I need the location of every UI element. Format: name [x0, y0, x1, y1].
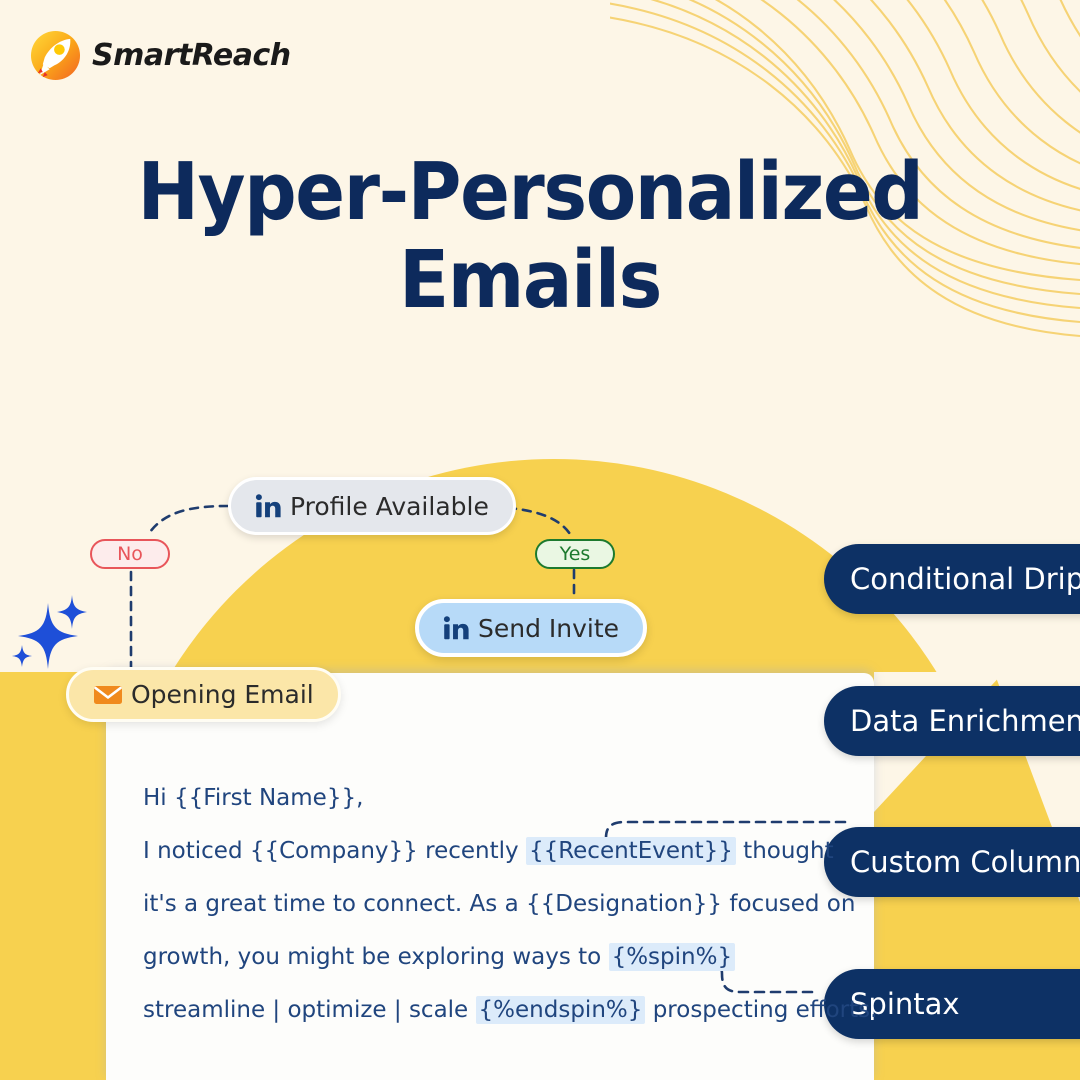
- merge-token: {%spin%}: [609, 943, 736, 971]
- email-text: it's a great time to connect. As a {{Des…: [143, 891, 855, 917]
- email-text: thought: [736, 838, 834, 864]
- feature-pill-label: Custom Columns: [850, 845, 1080, 879]
- email-line: streamline | optimize | scale {%endspin%…: [143, 984, 843, 1037]
- email-text: prospecting efforts.: [645, 997, 877, 1023]
- feature-pill-data-enrichment[interactable]: Data Enrichment: [824, 686, 1080, 756]
- email-line: it's a great time to connect. As a {{Des…: [143, 878, 843, 931]
- linkedin-icon: [255, 494, 282, 518]
- flow-badge-yes[interactable]: Yes: [535, 539, 615, 569]
- flow-node-label: Opening Email: [131, 680, 314, 709]
- merge-token: {%endspin%}: [476, 996, 646, 1024]
- envelope-icon: [93, 684, 123, 706]
- feature-pill-conditional-drip[interactable]: Conditional Drip: [824, 544, 1080, 614]
- email-text: growth, you might be exploring ways to: [143, 944, 609, 970]
- email-line: I noticed {{Company}} recently {{RecentE…: [143, 825, 843, 878]
- page-title-line-1: Hyper-Personalized: [37, 148, 1023, 236]
- email-line: growth, you might be exploring ways to {…: [143, 931, 843, 984]
- yellow-left-strip: [0, 672, 106, 1080]
- email-body-text: Hi {{First Name}},I noticed {{Company}} …: [143, 772, 843, 1037]
- linkedin-icon: [443, 616, 470, 640]
- page-title-line-2: Emails: [37, 236, 1023, 324]
- flow-node-label: Send Invite: [478, 614, 619, 643]
- flow-badge-label: Yes: [560, 543, 591, 565]
- rocket-icon: [30, 30, 81, 81]
- email-text: I noticed {{Company}} recently: [143, 838, 526, 864]
- feature-pill-custom-columns[interactable]: Custom Columns: [824, 827, 1080, 897]
- flow-node-label: Profile Available: [290, 492, 489, 521]
- flow-node-opening-email[interactable]: Opening Email: [66, 667, 341, 722]
- flow-node-profile-available[interactable]: Profile Available: [228, 477, 516, 535]
- flow-node-send-invite[interactable]: Send Invite: [415, 599, 647, 657]
- email-text: Hi {{First Name}},: [143, 785, 363, 811]
- email-line: Hi {{First Name}},: [143, 772, 843, 825]
- brand-logo[interactable]: SmartReach: [30, 30, 291, 81]
- feature-pill-label: Data Enrichment: [850, 704, 1080, 738]
- flow-badge-no[interactable]: No: [90, 539, 170, 569]
- merge-token: {{RecentEvent}}: [526, 837, 736, 865]
- brand-name: SmartReach: [92, 38, 291, 73]
- email-text: streamline | optimize | scale: [143, 997, 476, 1023]
- page-title: Hyper-Personalized Emails: [37, 148, 1023, 324]
- poster-canvas: SmartReach Hyper-Personalized Emails: [0, 0, 1080, 1080]
- flow-badge-label: No: [117, 543, 143, 565]
- feature-pill-label: Conditional Drip: [850, 562, 1080, 596]
